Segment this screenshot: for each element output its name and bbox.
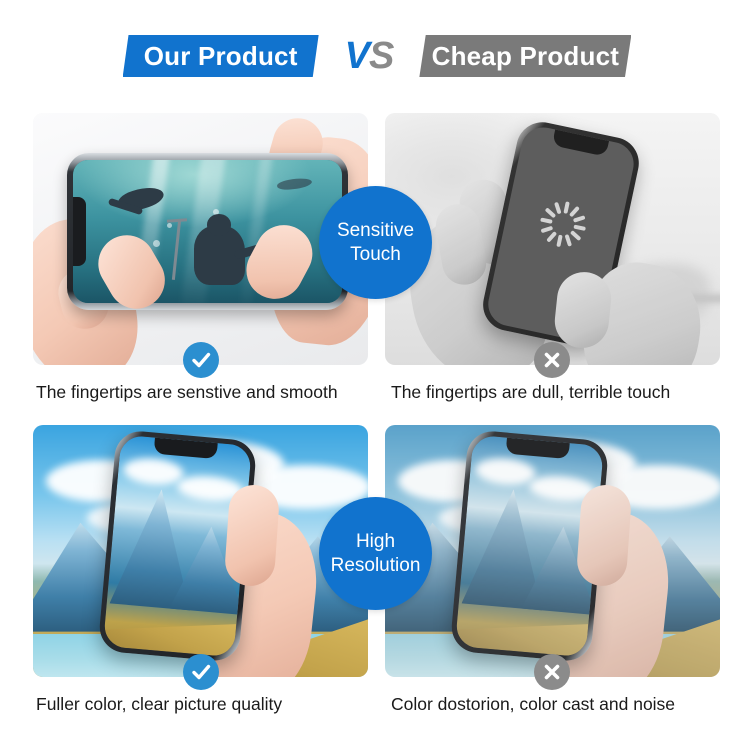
cross-icon bbox=[534, 654, 570, 690]
cheap-product-banner: Cheap Product bbox=[419, 35, 631, 77]
badge-high-resolution: High Resolution bbox=[319, 497, 432, 610]
thumb bbox=[224, 484, 281, 588]
thumb bbox=[576, 484, 633, 588]
panel-good-resolution bbox=[33, 425, 368, 677]
caption-bad-touch: The fingertips are dull, terrible touch bbox=[391, 382, 670, 403]
our-product-banner: Our Product bbox=[123, 35, 319, 77]
panel-bad-resolution bbox=[385, 425, 720, 677]
phone-notch bbox=[552, 130, 609, 157]
caption-bad-resolution: Color dostorion, color cast and noise bbox=[391, 694, 675, 715]
diver-warrior-head bbox=[207, 214, 231, 235]
badge-line-1: High bbox=[356, 530, 395, 553]
cheap-product-label: Cheap Product bbox=[432, 41, 620, 72]
bubble bbox=[167, 223, 172, 228]
vs-letter-s: S bbox=[369, 35, 393, 77]
loading-spinner-icon bbox=[536, 197, 591, 252]
vs-letter-v: V bbox=[345, 35, 369, 77]
badge-line-2: Resolution bbox=[331, 554, 421, 577]
phone-notch bbox=[73, 197, 86, 265]
caption-good-resolution: Fuller color, clear picture quality bbox=[36, 694, 282, 715]
photo-bad-resolution bbox=[385, 425, 720, 677]
cross-icon bbox=[534, 342, 570, 378]
photo-good-resolution bbox=[33, 425, 368, 677]
check-icon bbox=[183, 654, 219, 690]
panel-bad-touch bbox=[385, 113, 720, 365]
badge-line-2: Touch bbox=[350, 243, 401, 266]
badge-line-1: Sensitive bbox=[337, 219, 414, 242]
photo-good-touch bbox=[33, 113, 368, 365]
check-icon bbox=[183, 342, 219, 378]
photo-bad-touch bbox=[385, 113, 720, 365]
vs-label: VS bbox=[345, 37, 394, 75]
panel-good-touch bbox=[33, 113, 368, 365]
comparison-infographic: Our Product VS Cheap Product bbox=[0, 0, 750, 750]
our-product-label: Our Product bbox=[144, 41, 298, 72]
caption-good-touch: The fingertips are senstive and smooth bbox=[36, 382, 338, 403]
header-bar: Our Product VS Cheap Product bbox=[0, 26, 750, 86]
badge-sensitive-touch: Sensitive Touch bbox=[319, 186, 432, 299]
